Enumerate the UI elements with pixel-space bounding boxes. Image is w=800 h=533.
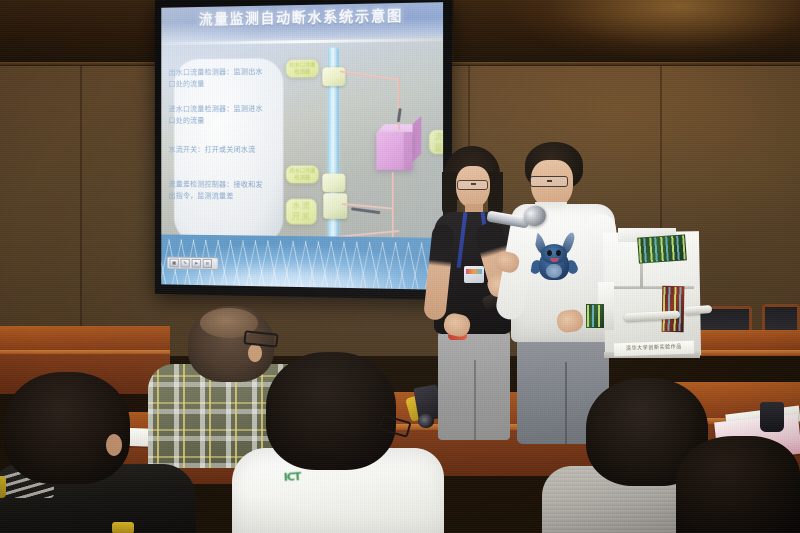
model-pipe-right — [684, 305, 712, 315]
slideshow-icon[interactable]: ▣ — [170, 259, 179, 268]
callout-outlet-sensor: 出水口流量检测器 — [286, 60, 318, 78]
lecture-hall-photo: 流量监测自动断水系统示意图 出水口流量检测器：监测出水口处的流量 进水口流量检测… — [0, 0, 800, 533]
head-back — [4, 372, 130, 484]
model-caption: 清华大学创新实验作品 — [614, 341, 694, 357]
circuit-board-red — [662, 286, 685, 332]
led-row — [638, 235, 686, 262]
wall-panel-seam — [80, 66, 82, 328]
stitch-eye-right — [556, 250, 561, 256]
projected-slide: 流量监测自动断水系统示意图 出水口流量检测器：监测出水口处的流量 进水口流量检测… — [161, 2, 443, 290]
controller-cube — [376, 132, 412, 170]
audience-white-tee: ICT — [232, 352, 444, 533]
system-schematic-diagram: 出水口流量检测器 进水口流量检测器 水流开关 流量差检测控制器 — [284, 46, 443, 258]
circuit-board-small — [586, 304, 604, 328]
pen-icon[interactable]: ✎ — [181, 259, 190, 268]
slide-text-line-3: 水流开关：打开或关闭水流 — [169, 144, 266, 155]
callout-flow-switch: 水流开关 — [286, 199, 316, 225]
eyeglasses-icon — [457, 180, 488, 190]
circuit-board-green — [637, 234, 687, 263]
yellow-accent — [112, 522, 134, 533]
presenter-toolbar[interactable]: ▣ ✎ ➤ ≡ — [167, 257, 219, 270]
slide-text-line-4: 流量差检测控制器：接收和发出指令，监测流量差 — [169, 179, 266, 202]
yellow-accent — [0, 476, 6, 498]
menu-icon[interactable]: ≡ — [203, 259, 212, 268]
signal-wire-lower-vertical — [392, 172, 394, 245]
connector-bar — [351, 207, 380, 214]
id-badge — [464, 266, 484, 283]
presenter-female-hair-left — [442, 172, 457, 216]
dark-cup — [760, 402, 784, 432]
stitch-belly — [546, 264, 562, 278]
eyeglasses-icon — [530, 176, 568, 187]
head-back — [266, 352, 396, 470]
pointer-icon[interactable]: ➤ — [192, 259, 201, 268]
slide-text-line-2: 进水口流量检测器：监测进水口处的流量 — [169, 103, 266, 126]
signal-wire-top — [340, 70, 400, 81]
project-model: 清华大学创新实验作品 — [596, 224, 712, 364]
presenter-female-hair-right — [488, 172, 503, 216]
controller-cube-side — [413, 116, 422, 162]
audience-far-right — [676, 436, 800, 533]
flow-switch-valve — [323, 193, 347, 219]
led-row — [663, 287, 684, 331]
ear — [106, 434, 122, 456]
slide-text-line-1: 出水口流量检测器：监测出水口处的流量 — [169, 66, 266, 89]
callout-inlet-sensor: 进水口流量检测器 — [286, 166, 318, 184]
stitch-eye-left — [547, 250, 552, 256]
led-row — [587, 305, 603, 327]
tshirt-logo: ICT — [283, 469, 320, 493]
inlet-sensor-joint — [322, 174, 345, 193]
connector-stub — [397, 108, 402, 122]
desk-row-back — [0, 326, 170, 352]
stitch-cartoon-print — [531, 236, 577, 288]
audience-black-tee — [0, 372, 196, 533]
trouser-seam — [474, 360, 476, 440]
projection-screen: 流量监测自动断水系统示意图 出水口流量检测器：监测出水口处的流量 进水口流量检测… — [155, 0, 452, 300]
